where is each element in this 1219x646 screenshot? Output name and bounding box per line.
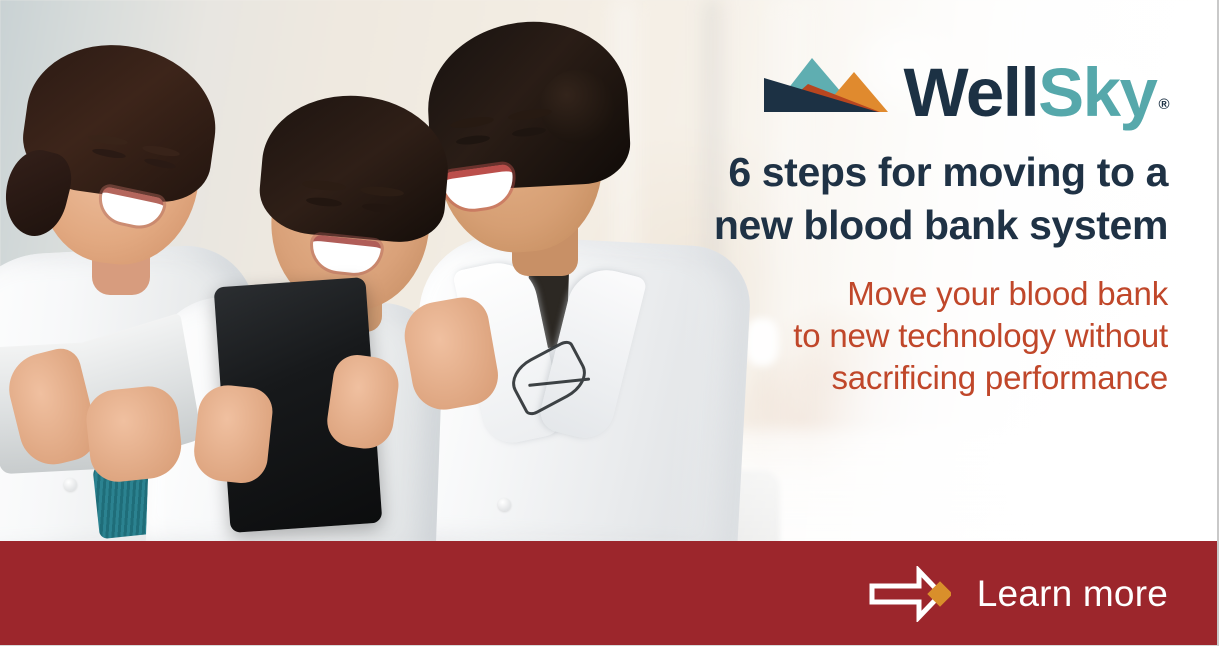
subheadline-line-1: Move your blood bank xyxy=(847,275,1168,312)
call-to-action-bar[interactable]: Learn more xyxy=(0,541,1217,646)
wellsky-wordmark: WellSky® xyxy=(904,63,1168,124)
ad-content: WellSky® 6 steps for moving to a new blo… xyxy=(608,0,1168,399)
wellsky-mountain-logo-icon xyxy=(762,54,890,124)
subheadline-line-3: sacrificing performance xyxy=(831,359,1168,396)
headline-line-2: new blood bank system xyxy=(714,202,1168,248)
logo-word-well: Well xyxy=(904,54,1039,131)
cta-group[interactable]: Learn more xyxy=(869,566,1168,622)
headline-line-1: 6 steps for moving to a xyxy=(728,149,1168,195)
subheadline-line-2: to new technology without xyxy=(793,317,1168,354)
subheadline: Move your blood bank to new technology w… xyxy=(608,273,1168,400)
registered-trademark-symbol: ® xyxy=(1158,96,1168,113)
learn-more-label[interactable]: Learn more xyxy=(977,575,1168,612)
advertisement-banner[interactable]: WellSky® 6 steps for moving to a new blo… xyxy=(0,0,1219,646)
wellsky-logo[interactable]: WellSky® xyxy=(608,0,1168,124)
logo-word-sky: Sky xyxy=(1038,54,1156,131)
arrow-right-icon xyxy=(869,566,951,622)
headline: 6 steps for moving to a new blood bank s… xyxy=(608,146,1168,253)
